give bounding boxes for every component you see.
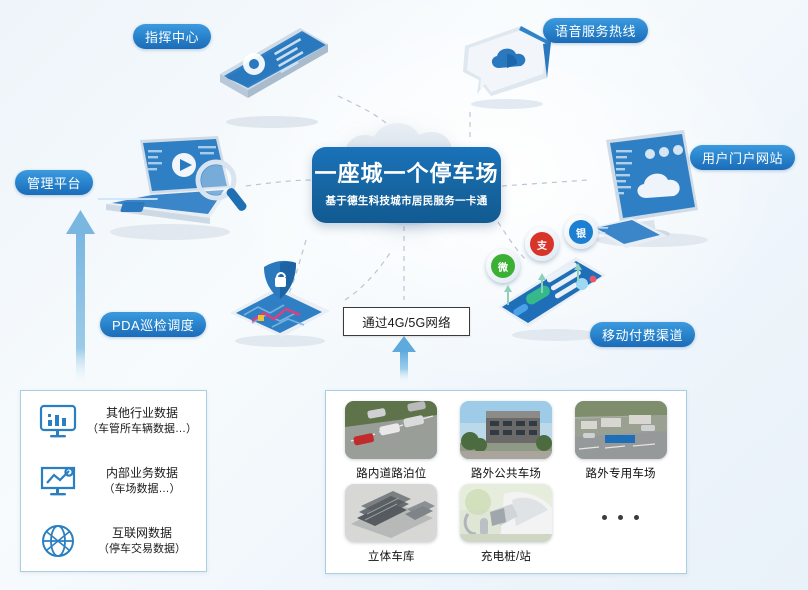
globe-network-icon	[35, 519, 81, 563]
user-portal-device	[588, 124, 728, 249]
central-banner: 一座城一个停车场 基于德生科技城市居民服务一卡通	[312, 147, 501, 223]
scene-item: 路外专用车场	[563, 401, 678, 484]
ellipsis-placeholder	[602, 488, 639, 546]
network-label-box: 通过4G/5G网络	[343, 307, 470, 336]
scene-item: 立体车库	[334, 484, 449, 567]
label-mobile-payment[interactable]: 移动付费渠道	[590, 322, 695, 347]
banner-subtitle: 基于德生科技城市居民服务一卡通	[326, 193, 488, 208]
data-source-item: 内部业务数据 （车场数据…）	[21, 451, 206, 511]
label-management-platform[interactable]: 管理平台	[15, 170, 93, 195]
data-source-detail: （车场数据…）	[87, 482, 197, 497]
pda-patrol-device	[222, 255, 342, 350]
multi-level-garage-photo	[345, 484, 437, 542]
data-up-arrow	[64, 208, 98, 388]
data-source-detail: （停车交易数据）	[87, 542, 197, 557]
data-source-detail: （车管所车辆数据…）	[87, 422, 197, 437]
data-sources-panel: 其他行业数据 （车管所车辆数据…） 内部业务数据 （车场数据…）	[20, 390, 207, 572]
command-center-device	[214, 22, 334, 130]
label-command-center[interactable]: 指挥中心	[133, 24, 211, 49]
data-source-title: 内部业务数据	[87, 465, 197, 481]
banner-title: 一座城一个停车场	[314, 162, 498, 186]
scene-caption: 充电桩/站	[481, 548, 531, 564]
scene-caption: 路外公共车场	[471, 465, 541, 481]
management-platform-device	[98, 132, 248, 242]
scene-item-ellipsis	[563, 484, 678, 567]
label-pda-patrol[interactable]: PDA巡检调度	[100, 312, 206, 337]
network-up-arrow	[390, 336, 418, 384]
scene-caption: 路外专用车场	[586, 465, 656, 481]
label-voice-hotline[interactable]: 语音服务热线	[543, 18, 648, 43]
scene-item: 路外公共车场	[449, 401, 564, 484]
scene-caption: 路内道路泊位	[356, 465, 426, 481]
line-chart-monitor-icon	[35, 459, 81, 503]
parking-scenes-panel: 路内道路泊位	[325, 390, 687, 574]
scene-item: 充电桩/站	[449, 484, 564, 567]
data-source-item: 互联网数据 （停车交易数据）	[21, 511, 206, 571]
off-street-dedicated-lot-photo	[575, 401, 667, 459]
data-source-title: 互联网数据	[87, 525, 197, 541]
voice-hotline-device	[455, 24, 555, 112]
off-street-public-lot-photo	[460, 401, 552, 459]
data-source-title: 其他行业数据	[87, 405, 197, 421]
infographic-stage: 一座城一个停车场 基于德生科技城市居民服务一卡通	[0, 0, 808, 590]
alipay-badge: 支	[525, 227, 559, 261]
bar-chart-monitor-icon	[35, 399, 81, 443]
scene-caption: 立体车库	[368, 548, 415, 564]
label-user-portal[interactable]: 用户门户网站	[690, 145, 795, 170]
badge-arrows	[490, 257, 615, 317]
scene-item: 路内道路泊位	[334, 401, 449, 484]
data-source-item: 其他行业数据 （车管所车辆数据…）	[21, 391, 206, 451]
on-street-parking-photo	[345, 401, 437, 459]
unionpay-badge: 银	[564, 215, 598, 249]
ev-charging-photo	[460, 484, 552, 542]
